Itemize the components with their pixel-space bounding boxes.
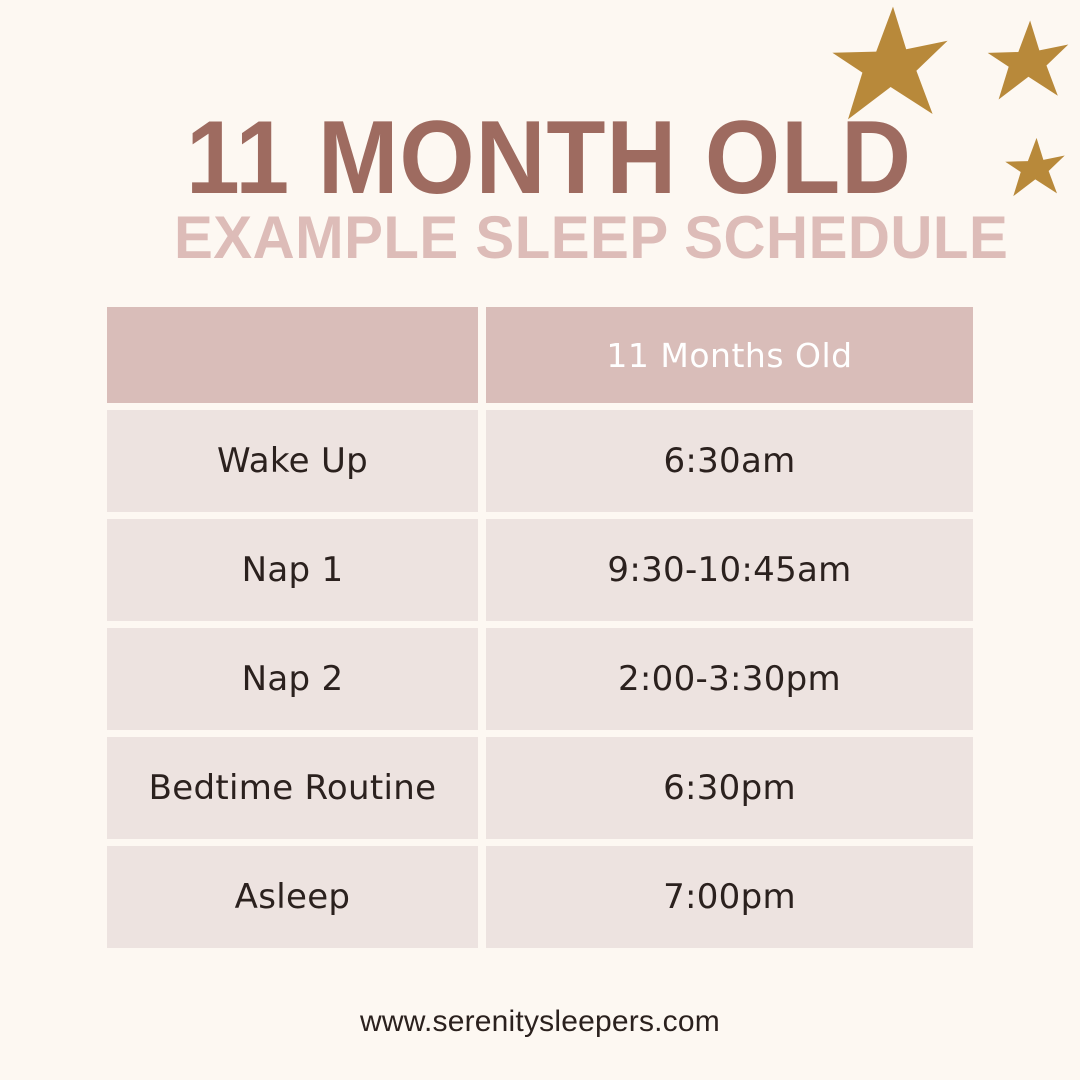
- table-cell-value: 2:00-3:30pm: [486, 628, 973, 730]
- headline-block: 11 MONTH OLD EXAMPLE SLEEP SCHEDULE: [0, 0, 1080, 300]
- schedule-table: 11 Months Old Wake Up 6:30am Nap 1 9:30-…: [107, 307, 973, 948]
- table-cell-label: Asleep: [107, 846, 478, 948]
- table-row: Asleep 7:00pm: [107, 846, 973, 948]
- table-row: Nap 1 9:30-10:45am: [107, 519, 973, 621]
- table-cell-label: Nap 1: [107, 519, 478, 621]
- table-header-row: 11 Months Old: [107, 307, 973, 403]
- table-cell-label: Nap 2: [107, 628, 478, 730]
- table-header-cell-age: 11 Months Old: [486, 307, 973, 403]
- sleep-schedule-card: 11 MONTH OLD EXAMPLE SLEEP SCHEDULE 11 M…: [0, 0, 1080, 1080]
- table-row: Nap 2 2:00-3:30pm: [107, 628, 973, 730]
- table-cell-value: 7:00pm: [486, 846, 973, 948]
- table-cell-value: 6:30pm: [486, 737, 973, 839]
- page-subtitle: EXAMPLE SLEEP SCHEDULE: [174, 208, 1008, 268]
- table-cell-value: 6:30am: [486, 410, 973, 512]
- table-cell-label: Bedtime Routine: [107, 737, 478, 839]
- page-title: 11 MONTH OLD: [186, 106, 912, 210]
- table-cell-label: Wake Up: [107, 410, 478, 512]
- table-header-cell-label: [107, 307, 478, 403]
- table-row: Wake Up 6:30am: [107, 410, 973, 512]
- footer-website-url: www.serenitysleepers.com: [0, 1005, 1080, 1039]
- table-cell-value: 9:30-10:45am: [486, 519, 973, 621]
- table-row: Bedtime Routine 6:30pm: [107, 737, 973, 839]
